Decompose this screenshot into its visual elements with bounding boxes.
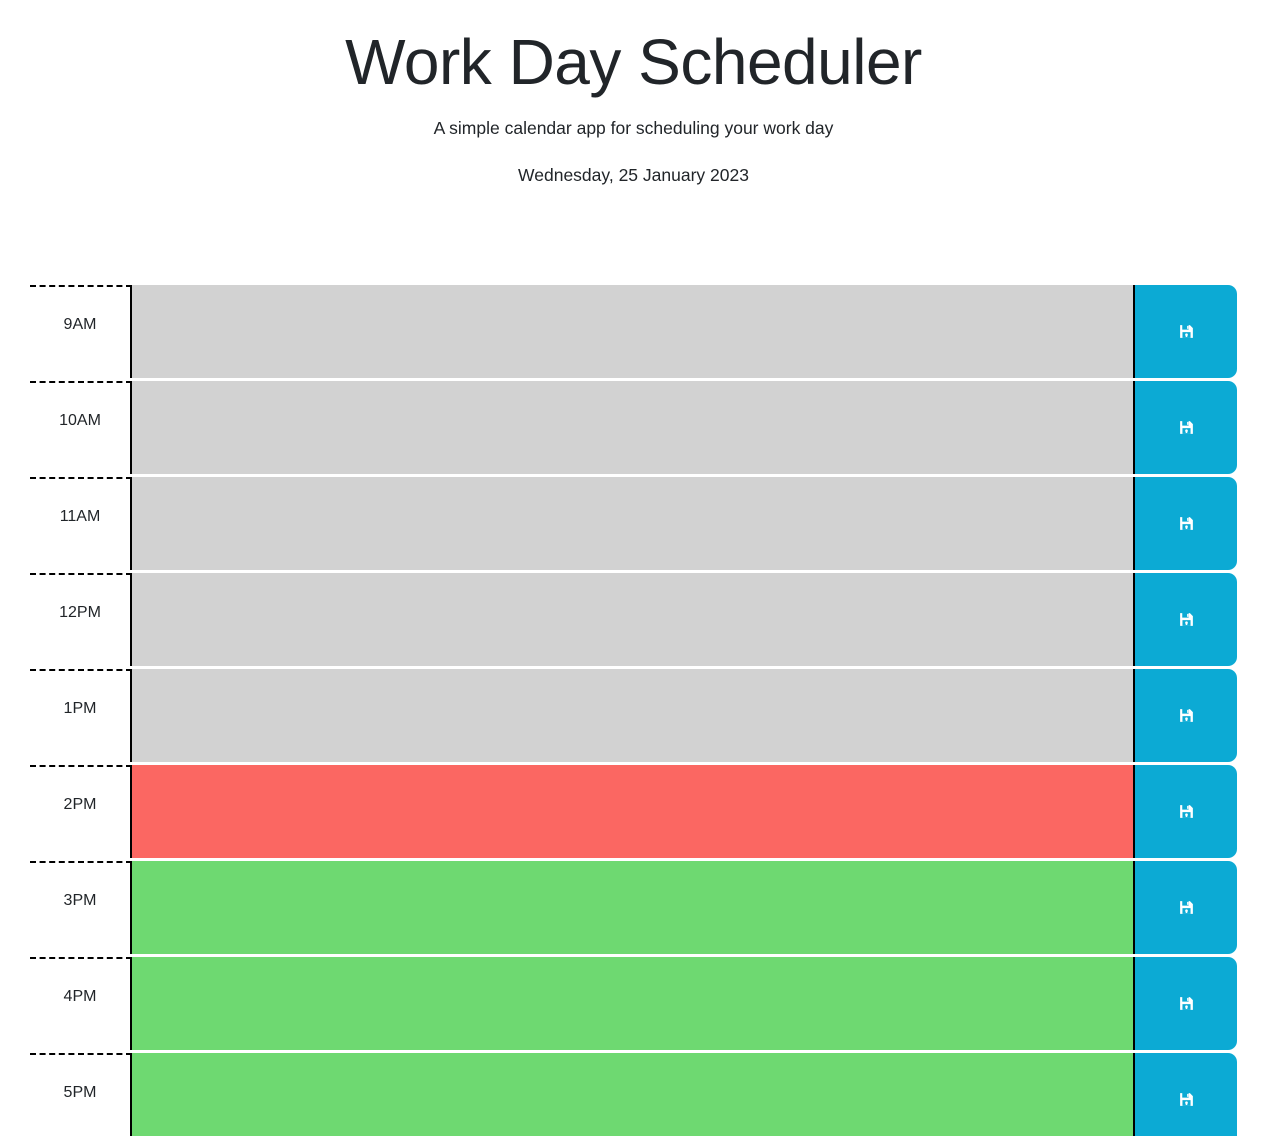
event-input-hour-16[interactable] bbox=[132, 957, 1135, 1050]
hour-label-hour-12: 12PM bbox=[30, 573, 132, 666]
save-button-hour-10[interactable] bbox=[1135, 381, 1237, 474]
hour-label-hour-14: 2PM bbox=[30, 765, 132, 858]
save-button-hour-13[interactable] bbox=[1135, 669, 1237, 762]
time-block-hour-9: 9AM bbox=[30, 285, 1237, 378]
save-floppy-disk-icon bbox=[1178, 707, 1195, 724]
time-block-hour-10: 10AM bbox=[30, 381, 1237, 474]
time-block-hour-17: 5PM bbox=[30, 1053, 1237, 1136]
hour-label-hour-17: 5PM bbox=[30, 1053, 132, 1136]
save-button-hour-14[interactable] bbox=[1135, 765, 1237, 858]
save-button-hour-12[interactable] bbox=[1135, 573, 1237, 666]
save-floppy-disk-icon bbox=[1178, 323, 1195, 340]
time-block-hour-15: 3PM bbox=[30, 861, 1237, 954]
page-subtitle: A simple calendar app for scheduling you… bbox=[0, 118, 1267, 139]
hour-label-hour-16: 4PM bbox=[30, 957, 132, 1050]
event-input-hour-14[interactable] bbox=[132, 765, 1135, 858]
time-block-hour-13: 1PM bbox=[30, 669, 1237, 762]
save-floppy-disk-icon bbox=[1178, 995, 1195, 1012]
save-floppy-disk-icon bbox=[1178, 419, 1195, 436]
save-floppy-disk-icon bbox=[1178, 1091, 1195, 1108]
event-input-hour-15[interactable] bbox=[132, 861, 1135, 954]
hour-label-hour-9: 9AM bbox=[30, 285, 132, 378]
event-input-hour-10[interactable] bbox=[132, 381, 1135, 474]
hour-label-hour-13: 1PM bbox=[30, 669, 132, 762]
save-floppy-disk-icon bbox=[1178, 899, 1195, 916]
scheduler-container: 9AM10AM11AM12PM1PM2PM3PM4PM5PM bbox=[30, 285, 1237, 1136]
event-input-hour-13[interactable] bbox=[132, 669, 1135, 762]
hour-label-hour-11: 11AM bbox=[30, 477, 132, 570]
event-input-hour-9[interactable] bbox=[132, 285, 1135, 378]
hour-label-hour-15: 3PM bbox=[30, 861, 132, 954]
event-input-hour-17[interactable] bbox=[132, 1053, 1135, 1136]
page-header: Work Day Scheduler A simple calendar app… bbox=[0, 0, 1267, 186]
save-button-hour-15[interactable] bbox=[1135, 861, 1237, 954]
time-block-hour-16: 4PM bbox=[30, 957, 1237, 1050]
time-block-hour-12: 12PM bbox=[30, 573, 1237, 666]
save-floppy-disk-icon bbox=[1178, 515, 1195, 532]
time-block-hour-11: 11AM bbox=[30, 477, 1237, 570]
save-floppy-disk-icon bbox=[1178, 611, 1195, 628]
current-day-text: Wednesday, 25 January 2023 bbox=[0, 165, 1267, 186]
event-input-hour-11[interactable] bbox=[132, 477, 1135, 570]
save-button-hour-17[interactable] bbox=[1135, 1053, 1237, 1136]
save-button-hour-16[interactable] bbox=[1135, 957, 1237, 1050]
scheduler-page: Work Day Scheduler A simple calendar app… bbox=[0, 0, 1267, 1136]
time-block-hour-14: 2PM bbox=[30, 765, 1237, 858]
event-input-hour-12[interactable] bbox=[132, 573, 1135, 666]
page-title: Work Day Scheduler bbox=[0, 26, 1267, 100]
save-button-hour-9[interactable] bbox=[1135, 285, 1237, 378]
save-floppy-disk-icon bbox=[1178, 803, 1195, 820]
save-button-hour-11[interactable] bbox=[1135, 477, 1237, 570]
hour-label-hour-10: 10AM bbox=[30, 381, 132, 474]
